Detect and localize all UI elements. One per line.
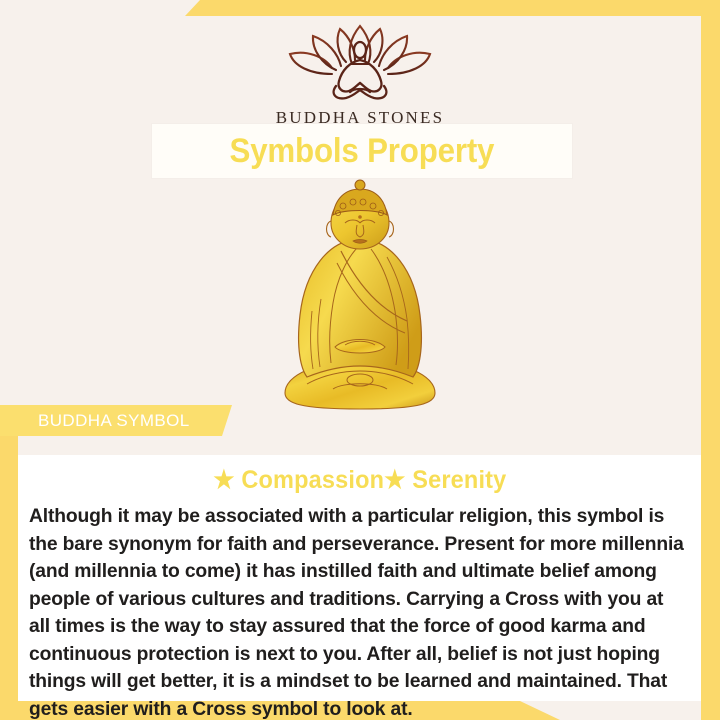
section-subtitle: ★ Compassion★ Serenity	[213, 465, 506, 495]
brand-logo-block: BUDDHA STONES	[0, 24, 720, 128]
seated-golden-buddha-icon	[271, 179, 449, 416]
section-subtitle-row: ★ Compassion★ Serenity	[18, 465, 701, 495]
decorative-top-bar	[185, 0, 720, 16]
content-card: ★ Compassion★ Serenity Although it may b…	[18, 455, 701, 701]
category-tag-label: BUDDHA SYMBOL	[38, 411, 190, 431]
title-banner: Symbols Property	[152, 124, 572, 178]
section-body-text: Although it may be associated with a par…	[29, 503, 689, 720]
lotus-meditation-icon	[280, 24, 440, 102]
poster-canvas: BUDDHA STONES Symbols Property	[0, 0, 720, 720]
buddha-artwork	[0, 176, 720, 416]
decorative-left-bar	[0, 405, 18, 720]
category-tag: BUDDHA SYMBOL	[0, 405, 232, 436]
page-title: Symbols Property	[230, 132, 495, 171]
